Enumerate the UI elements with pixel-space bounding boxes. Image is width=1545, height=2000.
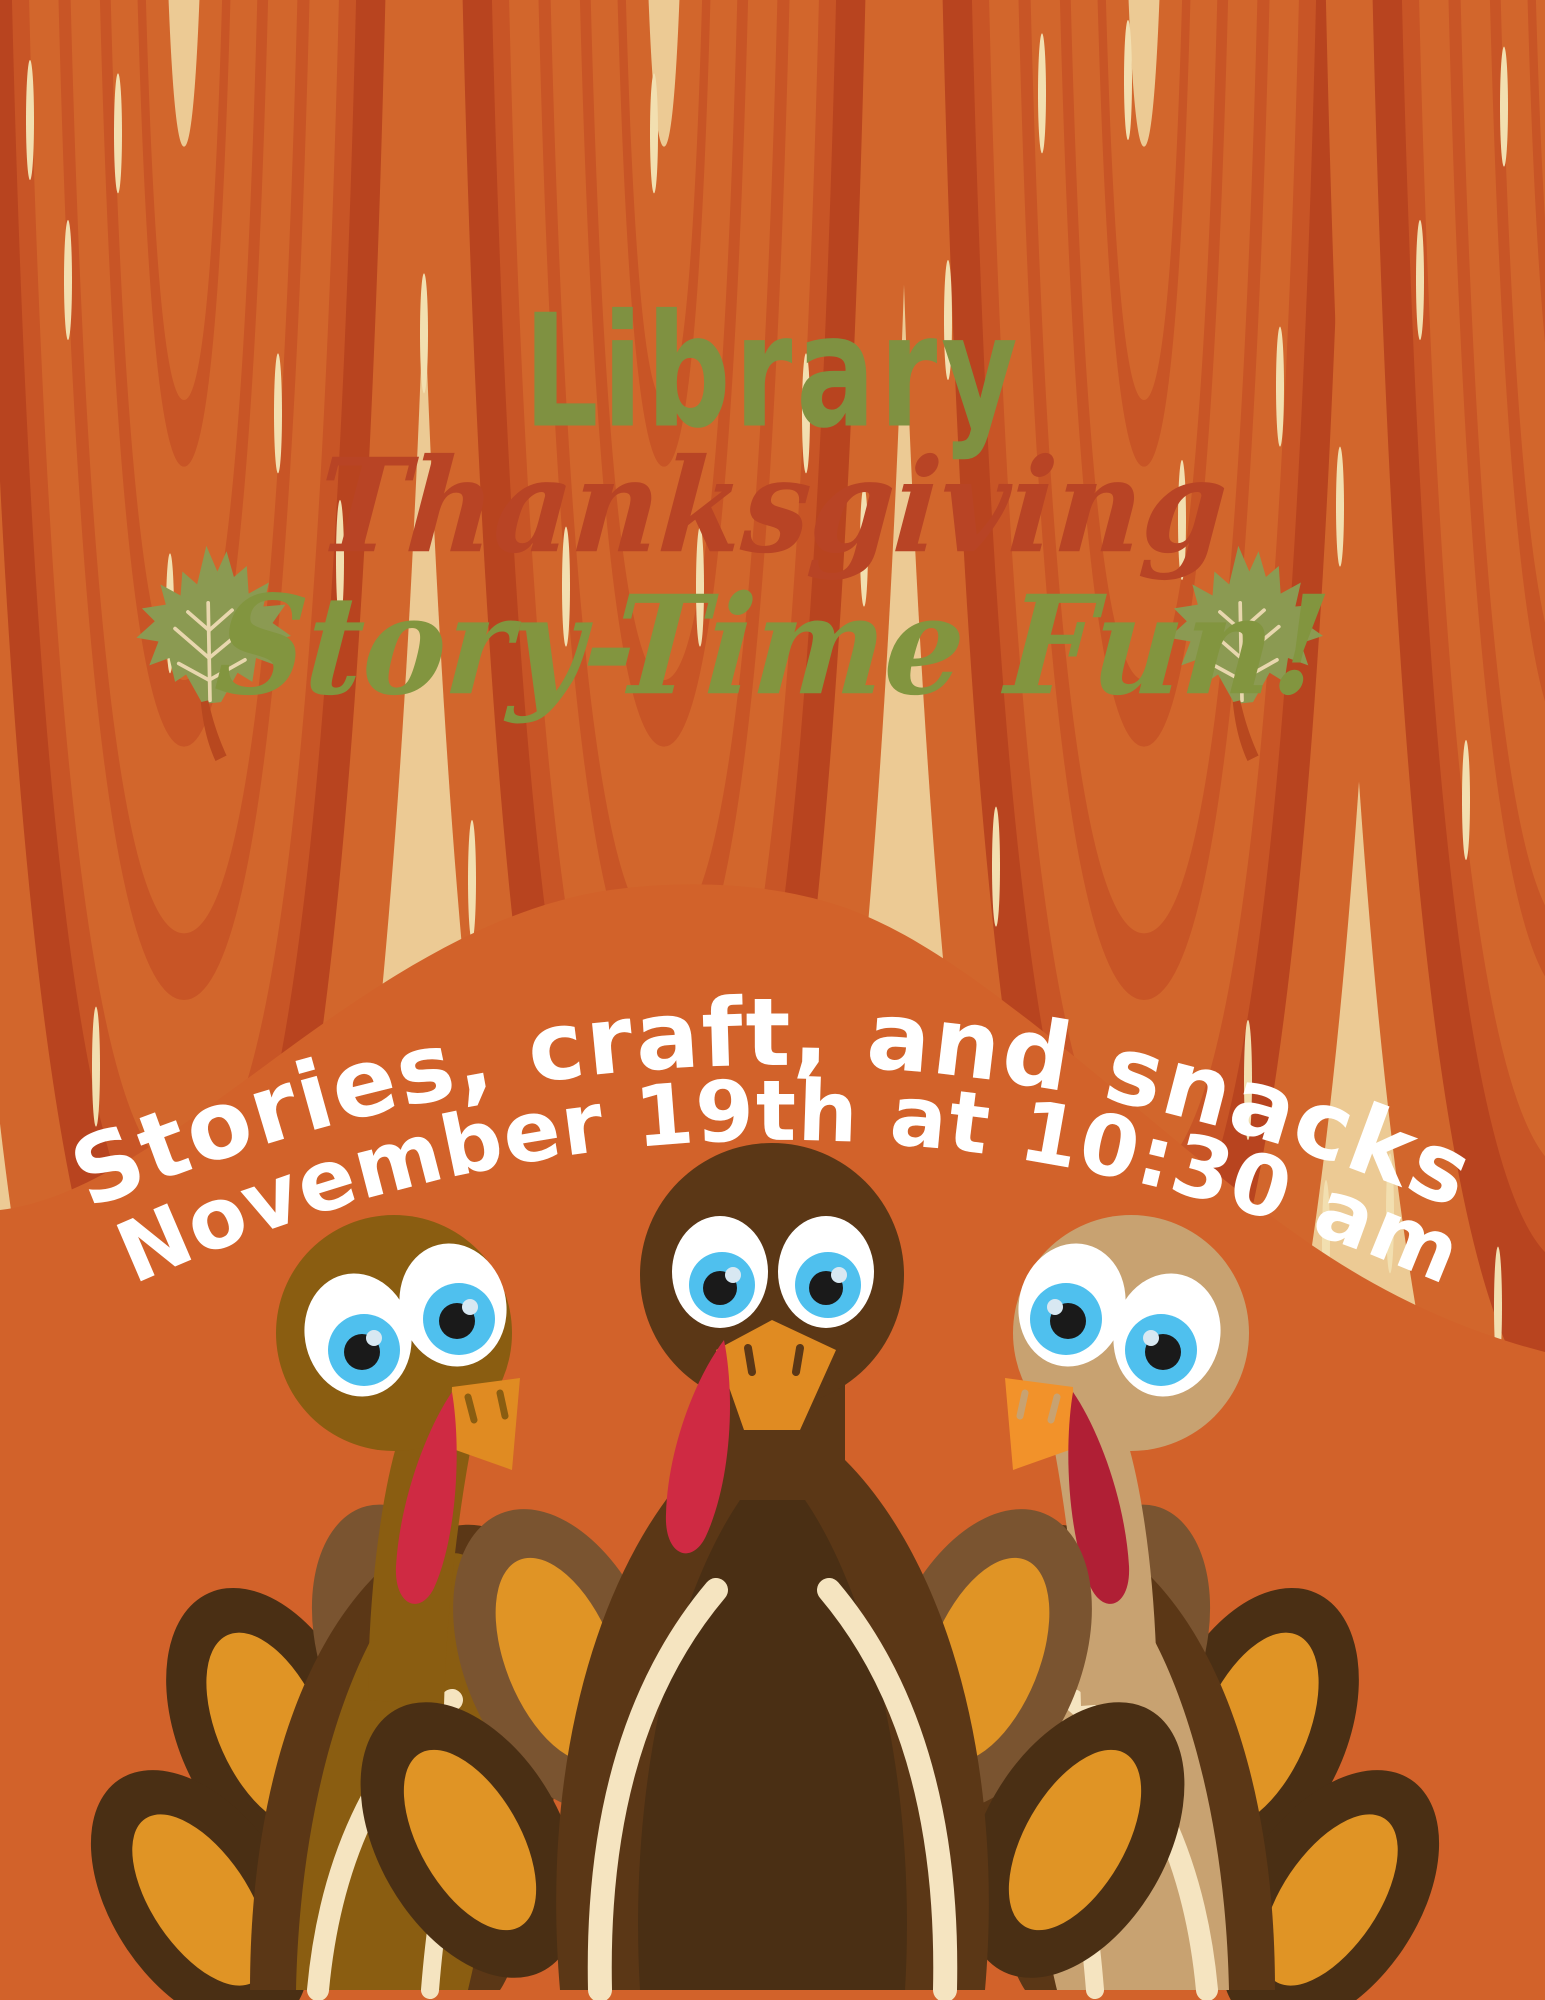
thanksgiving-story-time-poster: Library Thanksgiving Story-Time Fun! xyxy=(0,0,1545,2000)
arc-text-group: Stories, craft, and snacks November 19th… xyxy=(0,840,1545,1300)
